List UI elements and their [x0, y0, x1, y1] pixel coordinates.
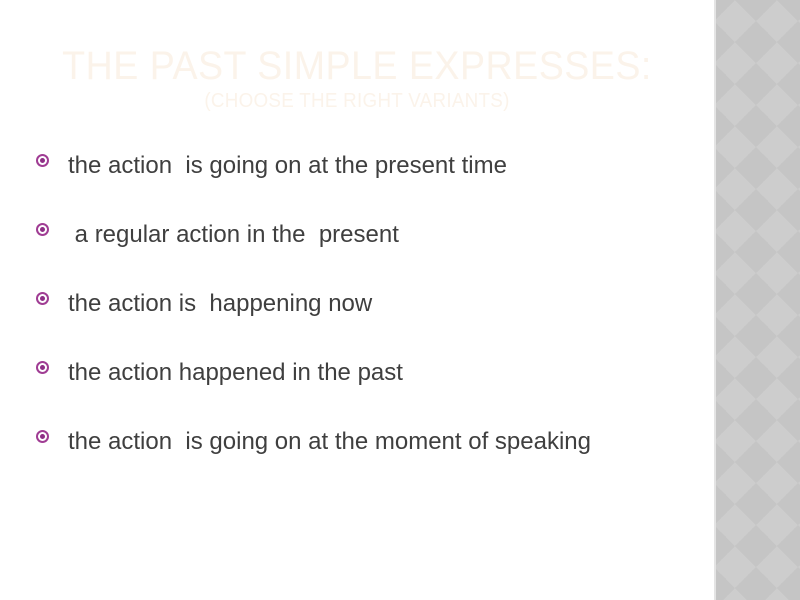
bullet-list: the action is going on at the present ti… [36, 143, 636, 464]
list-item[interactable]: the action is going on at the present ti… [36, 143, 636, 188]
list-item-label: the action is going on at the present ti… [68, 143, 636, 188]
list-item[interactable]: a regular action in the present [36, 212, 636, 257]
page-title: The Past Simple expresses: [21, 46, 692, 86]
side-panel-edge-line [714, 0, 716, 600]
list-item[interactable]: the action happened in the past [36, 350, 636, 395]
list-item-label: the action happened in the past [68, 350, 636, 395]
page-subtitle: (Choose the right variants) [21, 91, 692, 111]
list-item[interactable]: the action is happening now [36, 281, 636, 326]
ring-dot-bullet-icon [36, 292, 49, 305]
slide-canvas: The Past Simple expresses: (Choose the r… [0, 0, 800, 600]
title-block: The Past Simple expresses: (Choose the r… [0, 46, 714, 111]
list-item[interactable]: the action is going on at the moment of … [36, 419, 636, 464]
list-item-label: a regular action in the present [68, 212, 636, 257]
list-item-label: the action is going on at the moment of … [68, 419, 636, 464]
ring-dot-bullet-icon [36, 430, 49, 443]
decorative-side-panel [714, 0, 800, 600]
ring-dot-bullet-icon [36, 361, 49, 374]
list-item-label: the action is happening now [68, 281, 636, 326]
ring-dot-bullet-icon [36, 154, 49, 167]
ring-dot-bullet-icon [36, 223, 49, 236]
